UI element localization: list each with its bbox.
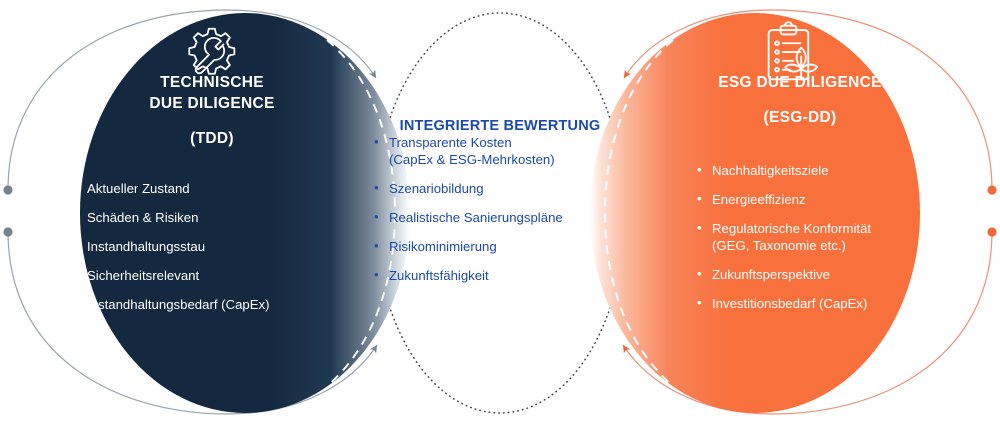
esg-title: ESG DUE DILIGENCE (ESG-DD)	[650, 72, 950, 128]
tdd-bullets-wrap: Aktueller Zustand Schäden & Risiken Inst…	[70, 180, 360, 325]
esg-bullet-list: Nachhaltigkeitsziele Energieeffizienz Re…	[695, 162, 995, 312]
list-item: Investitionsbedarf (CapEx)	[695, 295, 995, 312]
esg-title-abbrev: (ESG-DD)	[650, 107, 950, 128]
tdd-bullet-4: Instandhaltungsbedarf (CapEx)	[87, 297, 270, 312]
center-bullet-2: Realistische Sanierungspläne	[389, 210, 563, 225]
list-item: Nachhaltigkeitsziele	[695, 162, 995, 179]
list-item: Sicherheitsrelevant	[70, 267, 360, 284]
center-bullet-0-cont: (CapEx & ESG-Mehrkosten)	[389, 151, 628, 168]
tdd-bullet-3: Sicherheitsrelevant	[87, 268, 199, 283]
tdd-bullet-1: Schäden & Risiken	[87, 210, 198, 225]
esg-bullet-2-cont: (GEG, Taxonomie etc.)	[712, 237, 995, 254]
list-item: Realistische Sanierungspläne	[372, 209, 628, 226]
tdd-bullet-0: Aktueller Zustand	[87, 181, 190, 196]
esg-text-panel: ESG DUE DILIGENCE (ESG-DD)	[650, 72, 950, 128]
list-item: Transparente Kosten (CapEx & ESG-Mehrkos…	[372, 134, 628, 168]
center-bullet-list: Transparente Kosten (CapEx & ESG-Mehrkos…	[372, 134, 628, 284]
esg-title-line1: ESG DUE DILIGENCE	[718, 74, 882, 91]
left-arc-bottom-dot	[3, 227, 12, 236]
list-item: Aktueller Zustand	[70, 180, 360, 197]
esg-bullet-3: Zukunftsperspektive	[712, 267, 830, 282]
tdd-title-abbrev: (TDD)	[62, 128, 362, 149]
list-item: Risikominimierung	[372, 238, 628, 255]
list-item: Instandhaltungsstau	[70, 238, 360, 255]
left-arc-top-dot	[3, 185, 12, 194]
center-bullet-3: Risikominimierung	[389, 239, 497, 254]
list-item: Zukunftsfähigkeit	[372, 267, 628, 284]
esg-bullet-1: Energieeffizienz	[712, 192, 806, 207]
esg-bullet-4: Investitionsbedarf (CapEx)	[712, 296, 867, 311]
center-bullet-1: Szenariobildung	[389, 181, 484, 196]
list-item: Szenariobildung	[372, 180, 628, 197]
list-item: Instandhaltungsbedarf (CapEx)	[70, 296, 360, 313]
list-item: Regulatorische Konformität (GEG, Taxonom…	[695, 220, 995, 254]
tdd-text-panel: TECHNISCHE DUE DILIGENCE (TDD)	[62, 72, 362, 149]
list-item: Zukunftsperspektive	[695, 266, 995, 283]
center-bullet-4: Zukunftsfähigkeit	[389, 268, 489, 283]
tdd-bullet-2: Instandhaltungsstau	[87, 239, 205, 254]
tdd-title-line1: TECHNISCHE	[160, 74, 264, 91]
center-bullet-0: Transparente Kosten	[389, 135, 512, 150]
esg-bullet-0: Nachhaltigkeitsziele	[712, 163, 829, 178]
esg-bullets-wrap: Nachhaltigkeitsziele Energieeffizienz Re…	[695, 162, 995, 324]
esg-bullet-2: Regulatorische Konformität	[712, 221, 871, 236]
tdd-bullet-list: Aktueller Zustand Schäden & Risiken Inst…	[70, 180, 360, 313]
diagram-canvas: TECHNISCHE DUE DILIGENCE (TDD) Aktueller…	[0, 0, 1000, 427]
list-item: Schäden & Risiken	[70, 209, 360, 226]
center-title: INTEGRIERTE BEWERTUNG	[372, 118, 628, 134]
list-item: Energieeffizienz	[695, 191, 995, 208]
tdd-title-line2: DUE DILIGENCE	[149, 95, 274, 112]
center-text-panel: INTEGRIERTE BEWERTUNG Transparente Koste…	[372, 118, 628, 296]
tdd-title: TECHNISCHE DUE DILIGENCE (TDD)	[62, 72, 362, 149]
